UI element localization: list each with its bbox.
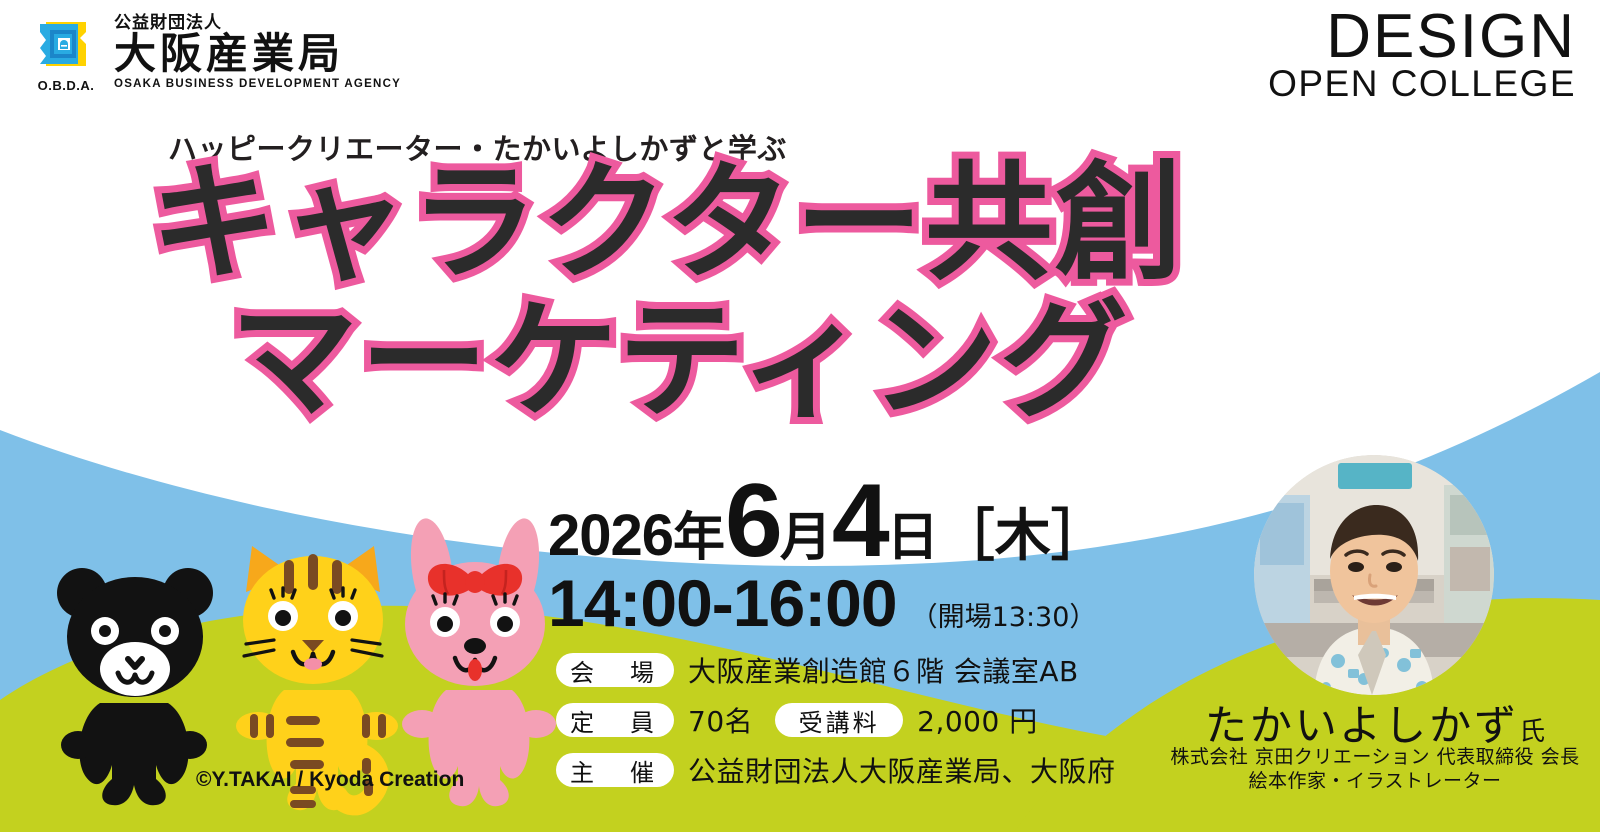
speaker-role-secondary: 絵本作家・イラストレーター [1165,766,1585,793]
fee-label: 受講料 [775,703,903,737]
date-year: 2026 [548,508,673,563]
organizer-label: 主 催 [556,753,674,787]
date-month: 6 [725,480,780,563]
venue-label: 会 場 [556,653,674,687]
event-time-line: 14:00-16:00 （開場13:30） [548,565,1107,641]
date-weekday: ［木］ [939,510,1107,563]
info-row-venue: 会 場 大阪産業創造館６階 会議室AB [556,650,1176,690]
event-info-rows: 会 場 大阪産業創造館６階 会議室AB 定 員 70名 受講料 2,000 円 … [556,650,1176,800]
event-title: キャラクター共創 マーケティング [150,160,1350,426]
fee-value: 2,000 円 [917,700,1038,740]
date-year-unit: 年 [673,514,725,563]
speaker-photo [1254,455,1494,695]
date-day: 4 [832,480,887,563]
date-day-unit: 日 [887,514,939,563]
obda-logo: O.B.D.A. 公益財団法人 大阪産業局 OSAKA BUSINESS DEV… [30,12,401,93]
obda-english-name: OSAKA BUSINESS DEVELOPMENT AGENCY [114,79,401,91]
event-title-line1: キャラクター共創 [150,160,1350,288]
obda-wordmark: 公益財団法人 大阪産業局 OSAKA BUSINESS DEVELOPMENT … [114,15,401,91]
event-date-line: 2026 年 6 月 4 日 ［木］ [548,480,1107,563]
obda-mark: O.B.D.A. [30,12,102,93]
speaker-portrait-illustration [1254,455,1494,695]
info-row-capacity: 定 員 70名 受講料 2,000 円 [556,700,1176,740]
date-month-unit: 月 [780,514,832,563]
organizer-value: 公益財団法人大阪産業局、大阪府 [688,750,1116,790]
event-time: 14:00-16:00 [548,565,897,641]
design-open-college-logo: DESIGN OPEN COLLEGE [1268,8,1576,102]
doc-line1: DESIGN [1268,8,1576,67]
doors-open-time: （開場13:30） [911,595,1097,634]
venue-value: 大阪産業創造館６階 会議室AB [688,650,1079,690]
doc-line2: OPEN COLLEGE [1268,65,1576,102]
event-title-line2: マーケティング [230,298,1350,426]
event-date-block: 2026 年 6 月 4 日 ［木］ 14:00-16:00 （開場13:30） [548,480,1107,641]
obda-logo-icon [34,12,98,76]
copyright-notice: ©Y.TAKAI / Kyoda Creation [196,768,464,792]
info-row-organizer: 主 催 公益財団法人大阪産業局、大阪府 [556,750,1176,790]
capacity-value: 70名 [688,700,753,740]
speaker-role-primary: 株式会社 京田クリエーション 代表取締役 会長 [1165,742,1585,769]
capacity-label: 定 員 [556,703,674,737]
obda-name: 大阪産業局 [114,32,401,76]
obda-abbr: O.B.D.A. [38,78,95,93]
event-poster: O.B.D.A. 公益財団法人 大阪産業局 OSAKA BUSINESS DEV… [0,0,1600,832]
